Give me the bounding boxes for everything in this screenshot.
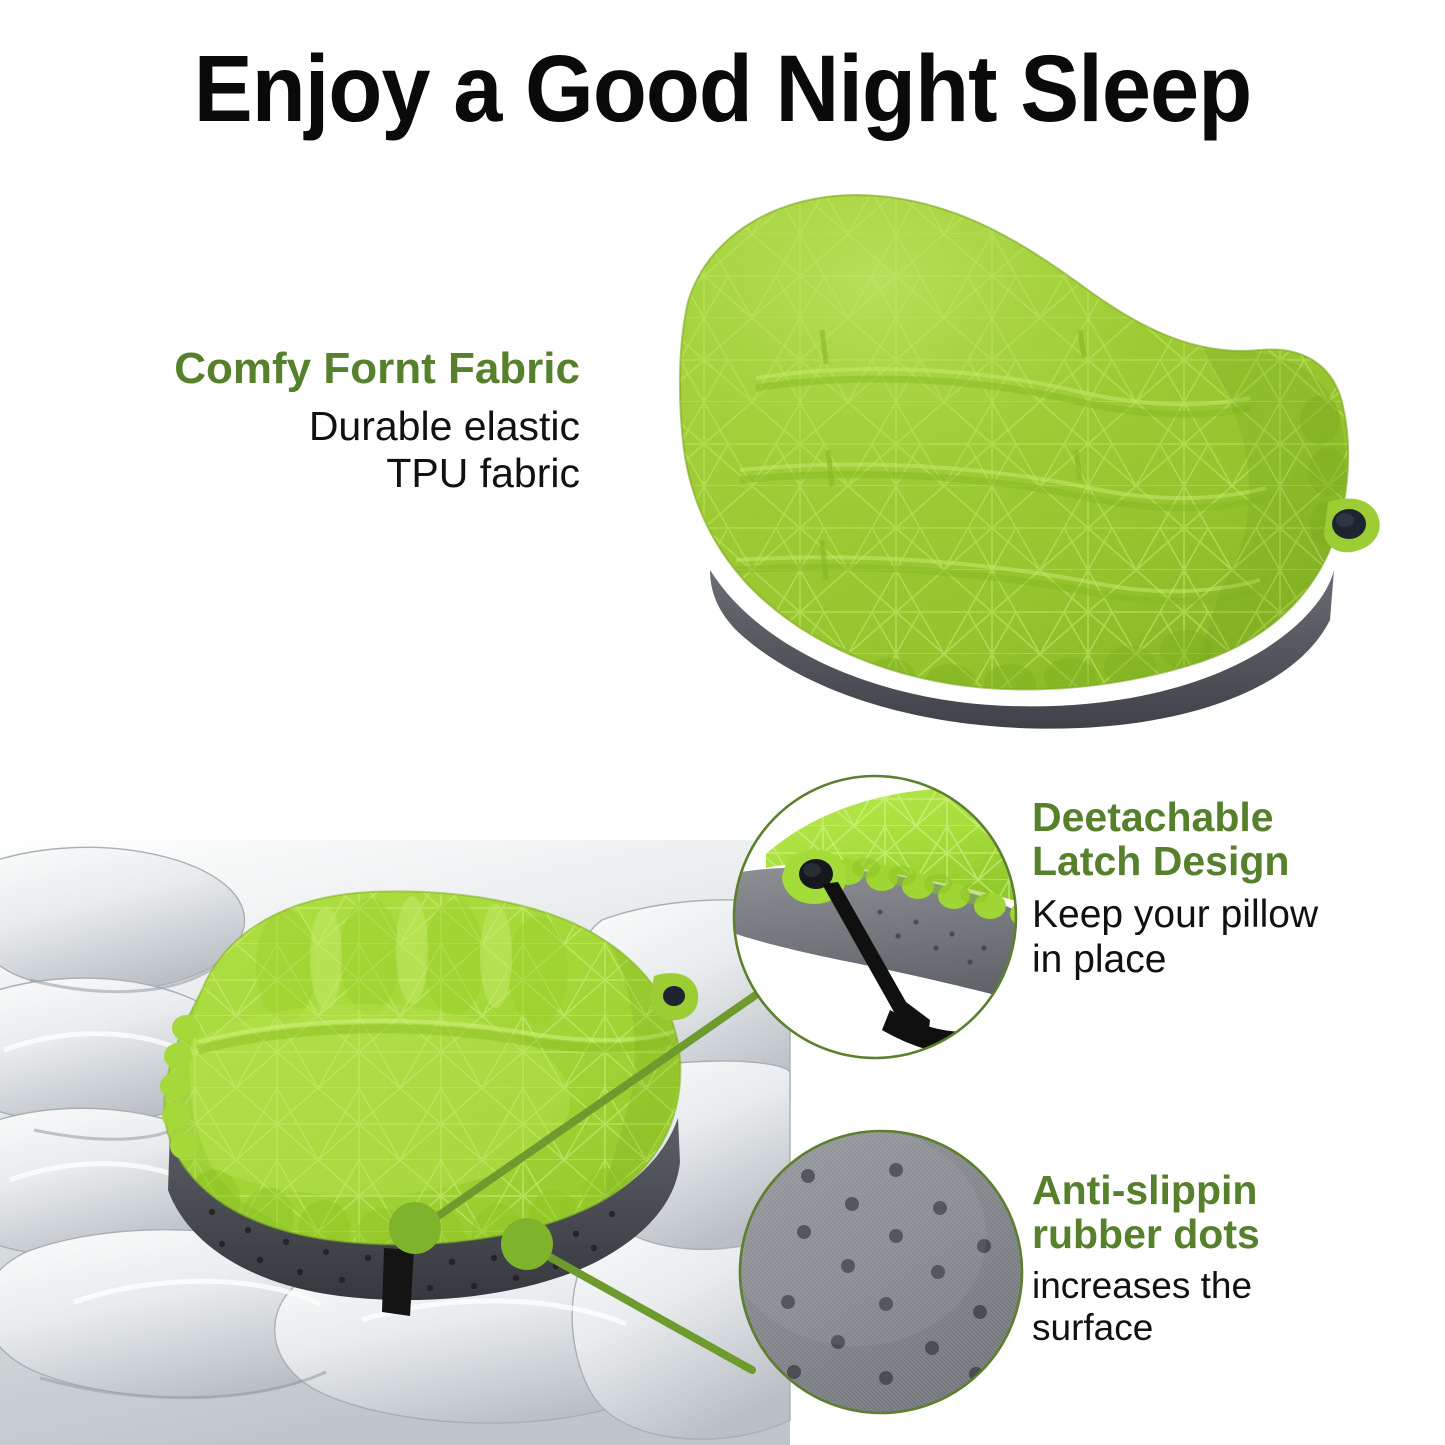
callout-latch: Deetachable Latch Design Keep your pillo…: [1032, 795, 1432, 982]
air-valve: [1324, 498, 1380, 552]
callout-fabric-subtext: Durable elastic TPU fabric: [40, 403, 580, 498]
callout-latch-subtext: Keep your pillow in place: [1032, 892, 1432, 982]
rubber-dot-fabric: [726, 1126, 1026, 1421]
leader-line-latch: [418, 992, 760, 1230]
callout-dots-subtext: increases the surface: [1032, 1265, 1432, 1351]
callout-latch-heading: Deetachable Latch Design: [1032, 795, 1432, 884]
callout-fabric: Comfy Fornt Fabric Durable elastic TPU f…: [40, 345, 580, 498]
latch-detail-circle: [730, 772, 1020, 1062]
leader-markers: [389, 1202, 553, 1270]
infographic-page: Enjoy a Good Night Sleep: [0, 0, 1445, 1445]
callout-fabric-heading: Comfy Fornt Fabric: [40, 345, 580, 393]
callout-dots: Anti-slippin rubber dots increases the s…: [1032, 1168, 1432, 1350]
callout-dots-heading: Anti-slippin rubber dots: [1032, 1168, 1432, 1257]
page-title: Enjoy a Good Night Sleep: [51, 42, 1395, 137]
rubber-dots-detail-circle: [736, 1126, 1026, 1421]
hero-pillow-image: [560, 150, 1390, 750]
